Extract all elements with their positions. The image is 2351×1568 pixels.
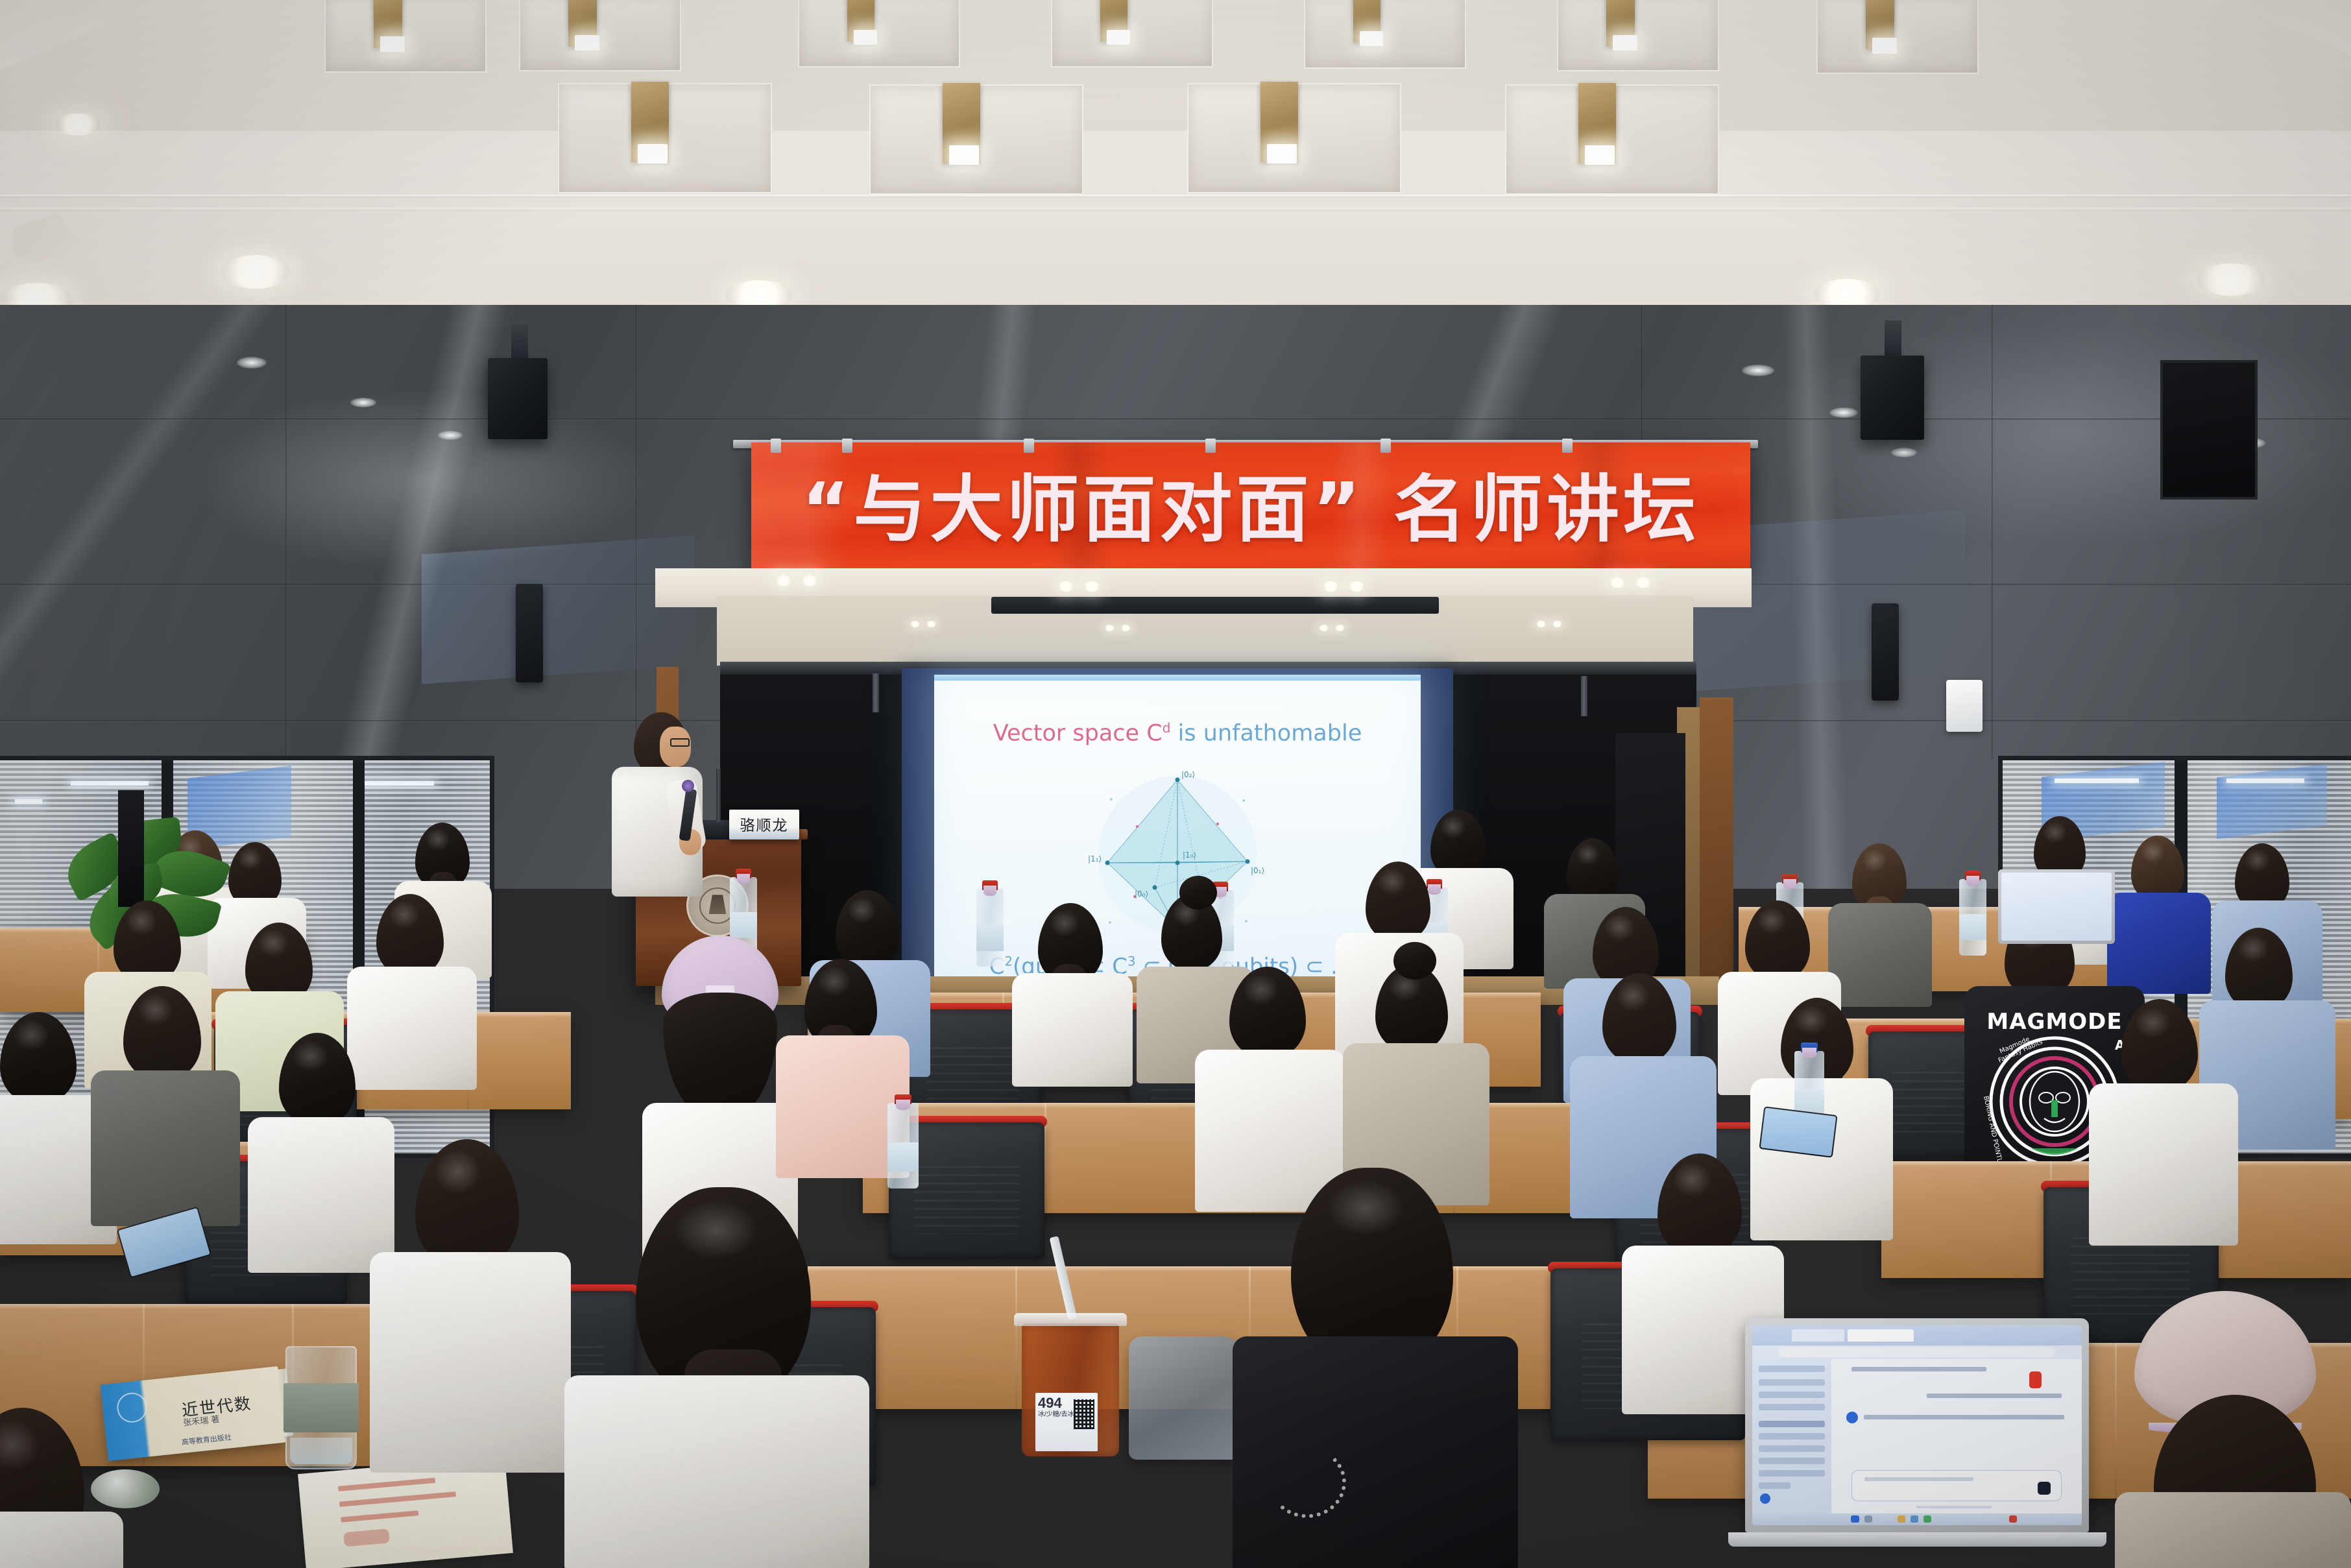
sidebar-item[interactable] (1759, 1404, 1825, 1410)
stage-downlight-pair (1057, 581, 1100, 592)
browser-tab-active[interactable] (1848, 1329, 1914, 1341)
chat-disclaimer (1916, 1506, 1992, 1509)
slide-title-math: C (1146, 721, 1162, 747)
audience-laptop[interactable] (1745, 1318, 2089, 1532)
ceiling-coffer (519, 0, 681, 71)
ceiling-downlight (221, 255, 291, 289)
browser-tab[interactable] (1792, 1329, 1844, 1341)
order-sticker: 494 冰/少糖/去冰 (1035, 1393, 1098, 1451)
search-icon[interactable] (1864, 1515, 1872, 1523)
doc-attachment-icon (2029, 1371, 2042, 1388)
audience-torso (347, 967, 477, 1090)
bubble-tea-cup: 494 冰/少糖/去冰 (1022, 1323, 1119, 1456)
window-light-strip (363, 781, 434, 786)
ceiling-cornice (0, 208, 2351, 211)
cup-lid (1014, 1313, 1127, 1326)
browser-address-bar[interactable] (1779, 1347, 2056, 1357)
wall-light-reflection (438, 431, 463, 440)
stage-downlight-pair-lower (1319, 625, 1345, 631)
chat-text-line (1927, 1393, 2062, 1398)
banner-text: “与大师面对面” 名师讲坛 (802, 451, 1700, 556)
audience-torso-foreground (370, 1252, 571, 1473)
ceiling-fixture-mark (13, 214, 123, 285)
wall-light-reflection (237, 357, 267, 368)
wall-speaker-left (516, 584, 543, 682)
audience-hair-bun (1179, 876, 1217, 910)
audience-torso (248, 1117, 394, 1273)
tumbler-lid (91, 1469, 160, 1508)
sidebar-item[interactable] (1759, 1482, 1790, 1489)
sidebar-new-chat[interactable] (1759, 1366, 1825, 1372)
water-bottle (1959, 879, 1986, 956)
pearl-necklace (1268, 1447, 1346, 1518)
tile-seam (285, 305, 287, 759)
sidebar-item-selected[interactable] (1759, 1421, 1825, 1427)
audience-torso (91, 1070, 240, 1226)
svg-text:|1₀⟩: |1₀⟩ (1183, 850, 1196, 860)
app-sidebar (1752, 1359, 1831, 1513)
laptop-screen[interactable] (1752, 1325, 2082, 1525)
window-light-strip (2226, 778, 2304, 783)
ceiling-coffer (324, 0, 487, 73)
assistant-avatar (1846, 1412, 1858, 1423)
audience-head-foreground (415, 1139, 519, 1269)
sidebar-item[interactable] (1759, 1433, 1825, 1440)
chat-placeholder-line (1864, 1477, 1973, 1481)
slide-title-exponent: d (1163, 720, 1171, 736)
slide-formula-sup2: 2 (1004, 954, 1013, 969)
stage-wood-trim (1700, 697, 1733, 983)
speaker-face (660, 727, 691, 767)
audience-hair-bun (1393, 942, 1436, 980)
dark-panel-behind-plant (118, 790, 144, 907)
ceiling-coffer (1187, 83, 1401, 193)
chat-main-panel (1831, 1359, 2082, 1513)
sidebar-item[interactable] (1759, 1458, 1825, 1464)
ceiling-coffer (558, 83, 772, 193)
audience-torso (1012, 973, 1133, 1087)
audience-torso (2107, 893, 2211, 994)
ceiling-downlight (55, 114, 101, 136)
svg-text:|0₀⟩: |0₀⟩ (1135, 889, 1148, 899)
event-banner: “与大师面对面” 名师讲坛 (751, 442, 1750, 570)
ceiling (0, 0, 2351, 324)
sidebar-item[interactable] (1759, 1392, 1825, 1398)
audience-smartphone[interactable] (1759, 1106, 1837, 1157)
ceiling-coffer (1557, 0, 1719, 71)
speaker-figure (600, 712, 723, 972)
microphone-tip (682, 780, 694, 792)
speaker-mount (511, 324, 528, 363)
chat-input-box[interactable] (1851, 1470, 2062, 1501)
send-button[interactable] (2038, 1482, 2051, 1495)
projector-rail (991, 597, 1439, 614)
wall-light-reflection (350, 398, 376, 407)
user-avatar[interactable] (1760, 1493, 1770, 1504)
window-light-strip (2055, 778, 2139, 783)
speaker-name-card: 骆顺龙 (729, 810, 799, 839)
speaker-mount (1885, 320, 1901, 361)
speaker-eyeglasses-icon (670, 738, 690, 747)
app-icon[interactable] (1911, 1515, 1918, 1523)
ceiling-coffer (1304, 0, 1466, 69)
svg-text:|0₂⟩: |0₂⟩ (1181, 770, 1195, 779)
ceiling-coffer (1505, 84, 1719, 195)
marble-reflection (422, 535, 694, 684)
svg-text:|0₁⟩: |0₁⟩ (1251, 866, 1264, 875)
water-bottle (976, 889, 1004, 967)
ceiling-coffer (798, 0, 960, 67)
audience-tablet[interactable] (1998, 869, 2115, 944)
stage-downlight-pair (1322, 581, 1365, 592)
browser-icon[interactable] (1923, 1515, 1931, 1523)
stage-downlight-pair-lower (1536, 621, 1563, 627)
ceiling-coffer (1051, 0, 1213, 67)
audience-torso (1828, 903, 1932, 1007)
wall-speaker-right (1872, 603, 1899, 701)
plastic-bag (1129, 1336, 1246, 1460)
slide-title-text2: is unfathomable (1171, 721, 1362, 747)
os-taskbar (1752, 1514, 2082, 1525)
slide-title: Vector space Cd is unfathomable (934, 720, 1421, 747)
stage-downlight-pair (1609, 577, 1652, 588)
explorer-icon[interactable] (1898, 1515, 1905, 1523)
ceiling-downlight (2196, 263, 2266, 296)
slide-title-text1: Vector space (993, 721, 1146, 747)
magmode-wordmark: MAGMODE (1986, 1009, 2122, 1035)
wall-light-reflection (1742, 365, 1774, 376)
svg-text:|1₁⟩: |1₁⟩ (1088, 854, 1102, 863)
tile-seam (636, 305, 638, 759)
wifi-access-point (1946, 680, 1983, 732)
audience-torso (2089, 1083, 2238, 1246)
slide-formula-sup3: 3 (1127, 954, 1136, 969)
hanging-loudspeaker-left (488, 358, 548, 439)
chat-heading-line (1851, 1367, 1986, 1371)
sidebar-item[interactable] (1759, 1379, 1825, 1386)
speaker-name-text: 骆顺龙 (740, 813, 789, 835)
start-icon[interactable] (1851, 1515, 1859, 1523)
sidebar-item[interactable] (1759, 1445, 1825, 1452)
screen-edge-glow (934, 675, 1421, 681)
laptop-lid (1745, 1318, 2089, 1532)
lecture-hall-photo: “与大师面对面” 名师讲坛 Vector space Cd is unfatho… (0, 0, 2351, 1568)
backdrop-seam (1581, 676, 1587, 716)
water-tumbler (285, 1346, 357, 1469)
tile-seam (1992, 305, 1994, 759)
wall-light-reflection (1891, 448, 1917, 457)
water-bottle (887, 1103, 919, 1188)
window-light-strip (15, 799, 42, 804)
tile-seam (0, 418, 2351, 420)
sidebar-item[interactable] (1759, 1470, 1825, 1477)
backdrop-seam (873, 673, 879, 712)
stage-downlight-pair-lower (910, 621, 937, 627)
qr-code-icon (1074, 1399, 1095, 1429)
window-light-strip (71, 781, 149, 786)
ceiling-coffer (869, 84, 1083, 195)
hanging-loudspeaker-right (1861, 356, 1924, 440)
tray-icon[interactable] (2009, 1515, 2017, 1523)
wall-light-reflection (1829, 407, 1858, 418)
wall-display-panel (2160, 360, 2258, 500)
stage-downlight-pair-lower (1105, 625, 1131, 631)
ceiling-cornice (0, 195, 2351, 198)
banner-clip (771, 439, 781, 453)
ceiling-coffer (1816, 0, 1979, 74)
audience-torso-foreground (564, 1375, 869, 1568)
laptop-base (1728, 1532, 2106, 1547)
chat-message-line (1864, 1415, 2064, 1419)
stage-downlight-pair (775, 575, 818, 586)
audience-torso-foreground (1233, 1336, 1518, 1568)
